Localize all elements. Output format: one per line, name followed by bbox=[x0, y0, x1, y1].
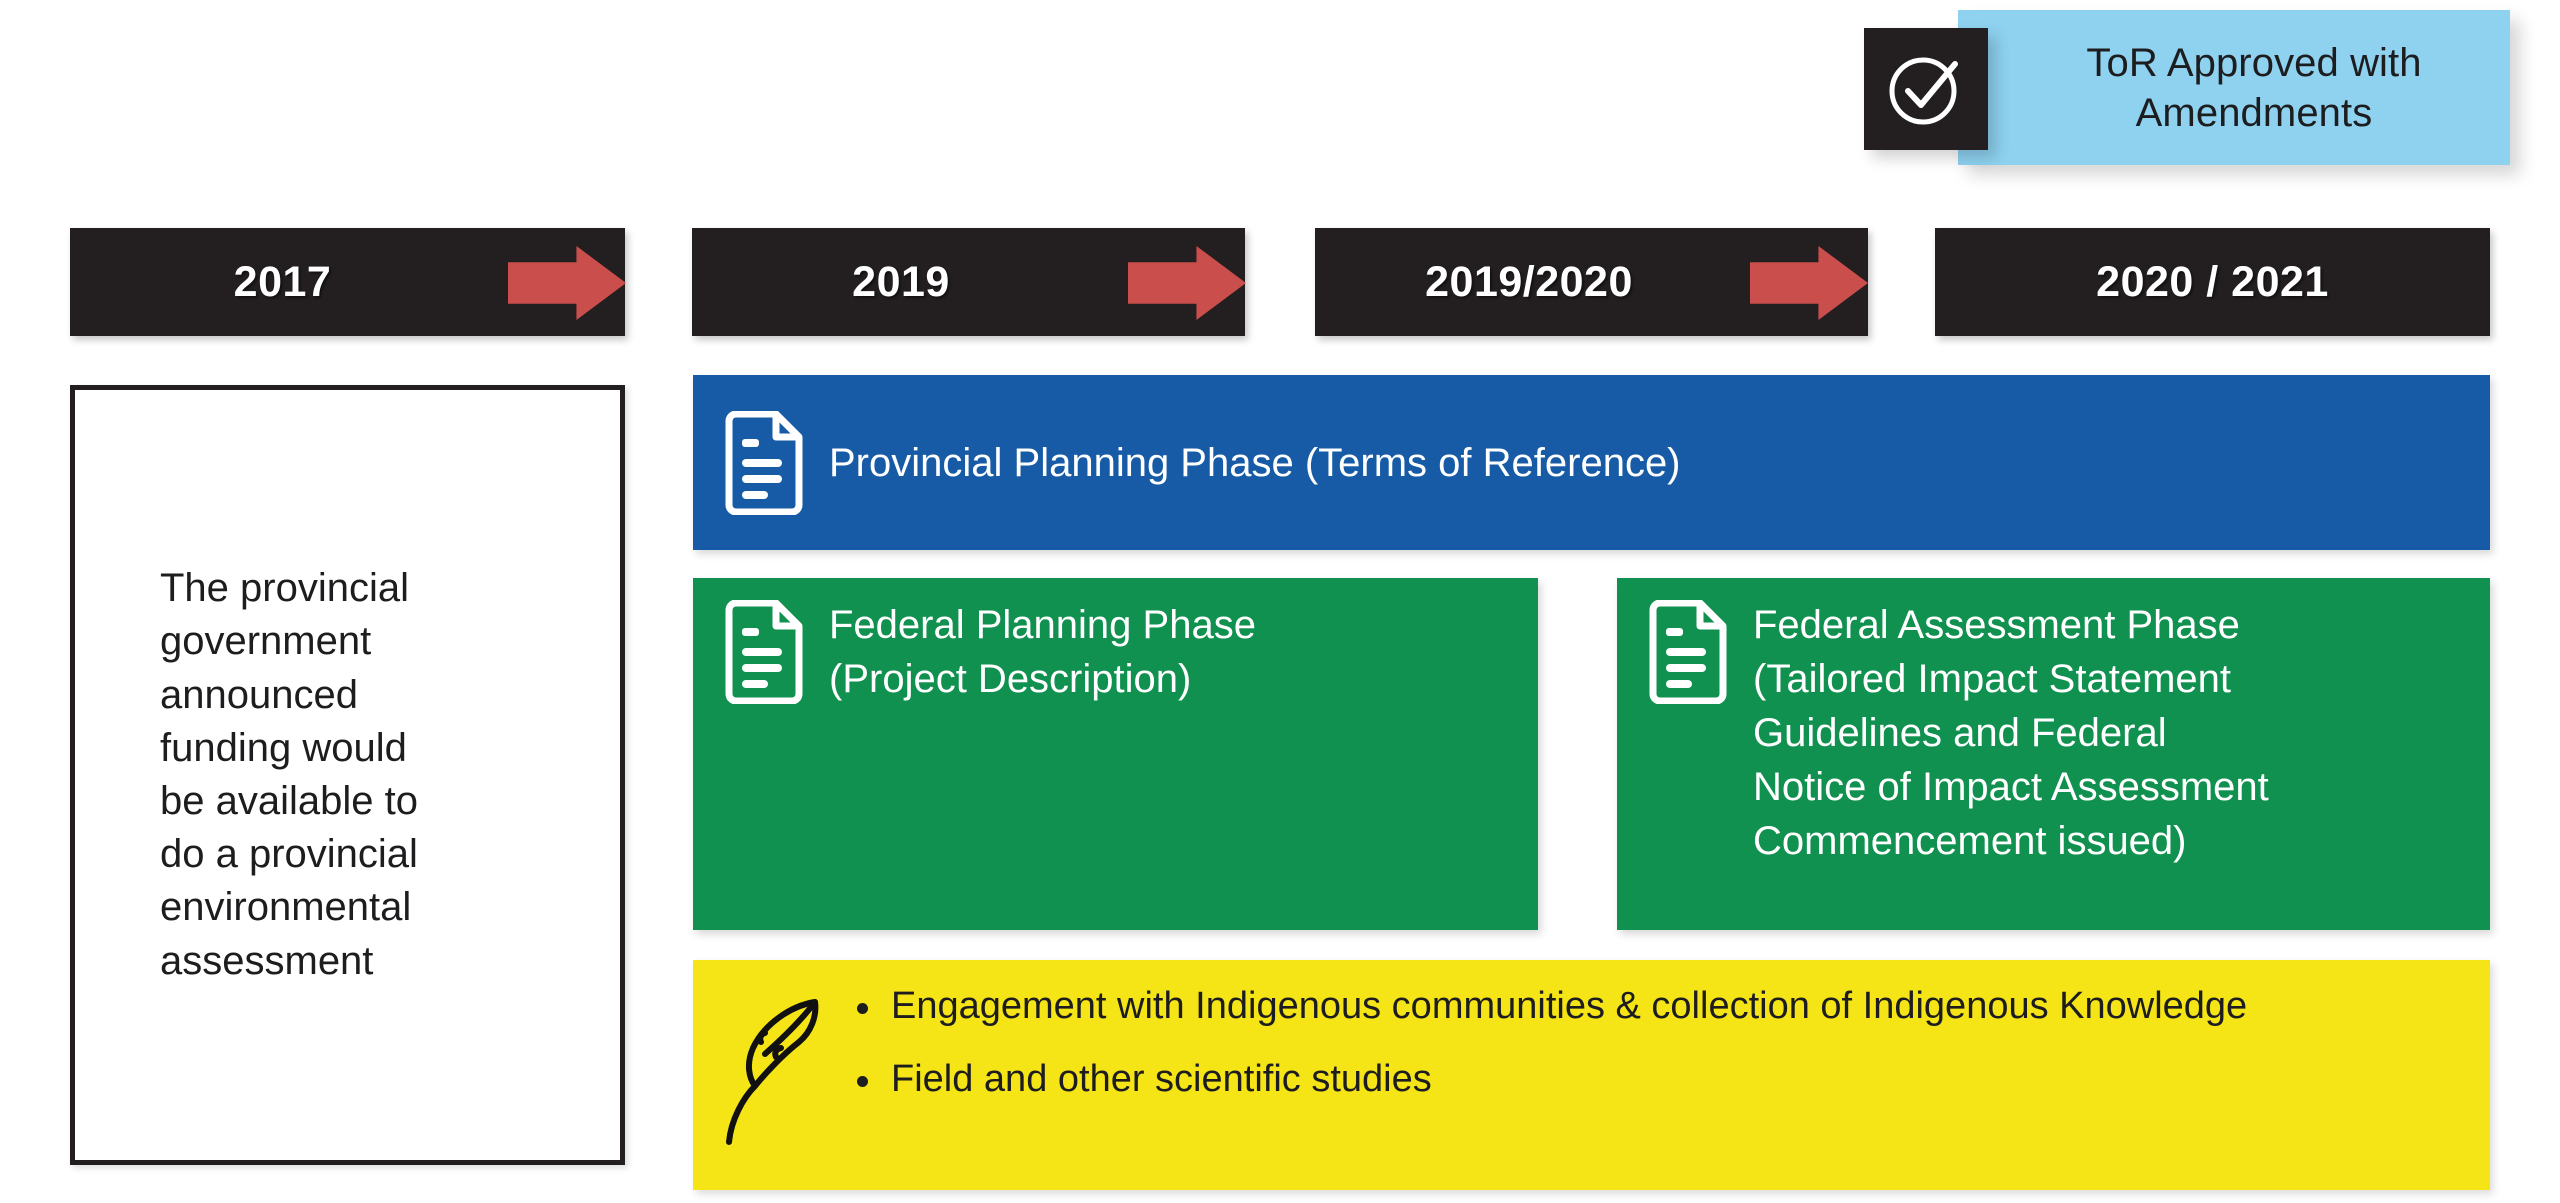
phase-provincial-planning[interactable]: Provincial Planning Phase (Terms of Refe… bbox=[693, 375, 2490, 550]
list-item: Field and other scientific studies bbox=[849, 1055, 2247, 1104]
timeline-year-2020-2021[interactable]: 2020 / 2021 bbox=[1935, 228, 2490, 336]
engagement-bullet-list: Engagement with Indigenous communities &… bbox=[849, 960, 2247, 1127]
timeline-year-label: 2020 / 2021 bbox=[2096, 258, 2329, 307]
engagement-and-studies-box[interactable]: Engagement with Indigenous communities &… bbox=[693, 960, 2490, 1190]
check-circle-icon bbox=[1864, 28, 1988, 150]
provincial-funding-note-text: The provincial government announced fund… bbox=[75, 562, 448, 988]
timeline-year-label: 2019 bbox=[852, 258, 950, 307]
phase-federal-assessment-label: Federal Assessment Phase (Tailored Impac… bbox=[1753, 578, 2269, 868]
tor-approval-badge-label: ToR Approved with Amendments bbox=[2046, 38, 2421, 138]
document-icon bbox=[1617, 578, 1753, 704]
list-item-label: Engagement with Indigenous communities &… bbox=[891, 985, 2247, 1027]
bullet-dot-icon bbox=[857, 1076, 868, 1087]
document-icon bbox=[693, 411, 829, 515]
provincial-funding-note-box: The provincial government announced fund… bbox=[70, 385, 625, 1165]
timeline-year-label: 2017 bbox=[234, 258, 332, 307]
bullet-dot-icon bbox=[857, 1003, 868, 1014]
phase-provincial-planning-label: Provincial Planning Phase (Terms of Refe… bbox=[829, 436, 1681, 490]
list-item: Engagement with Indigenous communities &… bbox=[849, 982, 2247, 1031]
phase-federal-planning[interactable]: Federal Planning Phase (Project Descript… bbox=[693, 578, 1538, 930]
phase-federal-assessment[interactable]: Federal Assessment Phase (Tailored Impac… bbox=[1617, 578, 2490, 930]
phase-federal-planning-label: Federal Planning Phase (Project Descript… bbox=[829, 578, 1256, 706]
document-icon bbox=[693, 578, 829, 704]
tor-approval-badge: ToR Approved with Amendments bbox=[1958, 10, 2510, 165]
timeline-year-label: 2019/2020 bbox=[1425, 258, 1633, 307]
feather-icon bbox=[693, 960, 849, 1156]
list-item-label: Field and other scientific studies bbox=[891, 1058, 1432, 1100]
